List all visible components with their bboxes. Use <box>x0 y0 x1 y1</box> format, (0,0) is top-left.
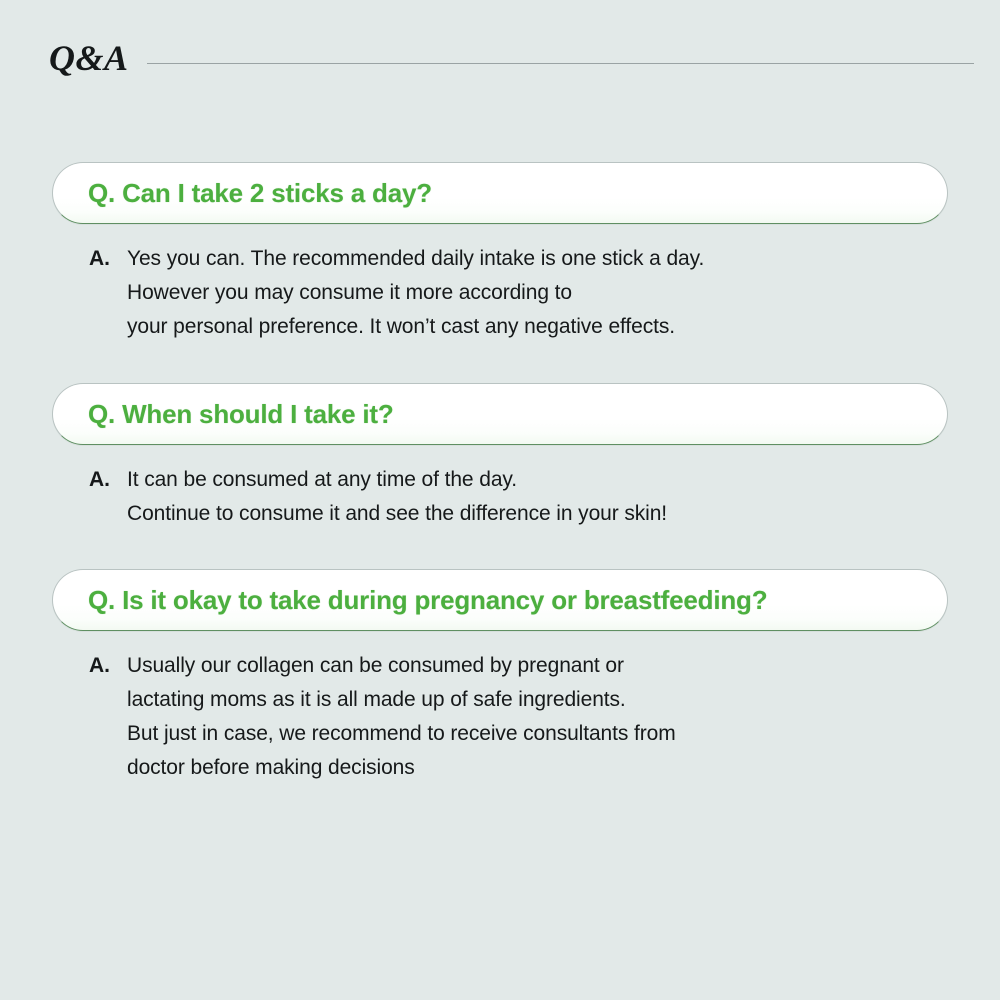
question-pill[interactable]: Q. Is it okay to take during pregnancy o… <box>52 569 948 631</box>
answer-block: A. Yes you can. The recommended daily in… <box>89 242 1000 344</box>
answer-block: A. It can be consumed at any time of the… <box>89 463 1000 531</box>
qa-list: Q. Can I take 2 sticks a day? A. Yes you… <box>0 162 1000 785</box>
answer-line: your personal preference. It won’t cast … <box>127 310 1000 344</box>
answer-lines: It can be consumed at any time of the da… <box>127 463 1000 531</box>
qa-item: Q. Can I take 2 sticks a day? A. Yes you… <box>0 162 1000 344</box>
question-pill[interactable]: Q. When should I take it? <box>52 383 948 445</box>
answer-lines: Usually our collagen can be consumed by … <box>127 649 1000 785</box>
answer-line: Yes you can. The recommended daily intak… <box>127 242 1000 276</box>
answer-lines: Yes you can. The recommended daily intak… <box>127 242 1000 344</box>
answer-marker: A. <box>89 649 127 683</box>
answer-line: But just in case, we recommend to receiv… <box>127 717 1000 751</box>
qa-item: Q. Is it okay to take during pregnancy o… <box>0 569 1000 785</box>
answer-line: Continue to consume it and see the diffe… <box>127 497 1000 531</box>
page-header: Q&A <box>0 34 1000 82</box>
answer-line: It can be consumed at any time of the da… <box>127 463 1000 497</box>
qa-item: Q. When should I take it? A. It can be c… <box>0 383 1000 531</box>
question-text: Q. When should I take it? <box>88 399 394 430</box>
answer-line: Usually our collagen can be consumed by … <box>127 649 1000 683</box>
answer-line: lactating moms as it is all made up of s… <box>127 683 1000 717</box>
answer-block: A. Usually our collagen can be consumed … <box>89 649 1000 785</box>
page-title: Q&A <box>49 38 129 78</box>
answer-line: doctor before making decisions <box>127 751 1000 785</box>
answer-line: However you may consume it more accordin… <box>127 276 1000 310</box>
header-divider <box>147 63 974 64</box>
answer-marker: A. <box>89 242 127 276</box>
question-pill[interactable]: Q. Can I take 2 sticks a day? <box>52 162 948 224</box>
question-text: Q. Can I take 2 sticks a day? <box>88 178 432 209</box>
qa-page: Q&A Q. Can I take 2 sticks a day? A. Yes… <box>0 0 1000 1000</box>
question-text: Q. Is it okay to take during pregnancy o… <box>88 585 767 616</box>
answer-marker: A. <box>89 463 127 497</box>
